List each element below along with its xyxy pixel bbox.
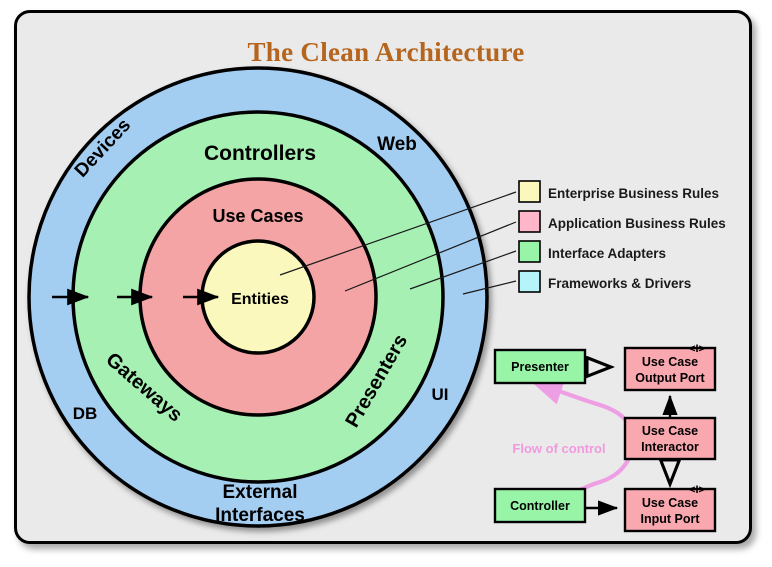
legend-swatch-frameworks [519,271,540,292]
ring-label-entities: Entities [231,291,289,308]
ring-label-use-cases: Use Cases [212,206,303,226]
legend-item-application: Application Business Rules [519,211,726,232]
flow-box-use-case-output-port-line1: Use Case [642,355,698,369]
flow-box-use-case-input-port-line2: Input Port [640,512,700,526]
flow-box-use-case-input-port[interactable]: <I> Use Case Input Port [625,484,715,531]
ring-label-db: DB [73,404,98,423]
interface-marker-output-port: <I> [689,343,705,355]
interface-marker-input-port: <I> [689,484,705,496]
legend-label-enterprise: Enterprise Business Rules [548,186,719,201]
diagram-canvas: Controllers Use Cases Entities Devices W… [0,0,772,567]
flow-of-control-diagram: Flow of control Presenter <I> Use Case O… [495,343,715,531]
legend-item-frameworks: Frameworks & Drivers [519,271,691,292]
ring-label-external-line2: Interfaces [215,505,305,526]
legend-swatch-application [519,211,540,232]
flow-box-use-case-interactor[interactable]: Use Case Interactor [625,418,715,459]
ring-label-controllers: Controllers [204,142,316,165]
flow-of-control-label: Flow of control [512,441,605,456]
flow-box-use-case-interactor-line2: Interactor [641,440,699,454]
flow-box-use-case-output-port-line2: Output Port [635,371,705,385]
flow-box-use-case-input-port-line1: Use Case [642,496,698,510]
legend-label-frameworks: Frameworks & Drivers [548,276,691,291]
legend-item-interface-adapters: Interface Adapters [519,241,666,262]
ring-label-web: Web [377,134,417,155]
flow-box-use-case-interactor-line1: Use Case [642,424,698,438]
legend: Enterprise Business Rules Application Bu… [519,181,726,292]
legend-label-application: Application Business Rules [548,216,726,231]
legend-label-interface-adapters: Interface Adapters [548,246,666,261]
flow-box-controller[interactable]: Controller [495,489,585,522]
flow-box-use-case-output-port[interactable]: <I> Use Case Output Port [625,343,715,390]
flow-box-presenter[interactable]: Presenter [495,350,585,383]
legend-swatch-enterprise [519,181,540,202]
ring-label-ui: UI [432,385,449,404]
legend-swatch-interface-adapters [519,241,540,262]
ring-label-external-line1: External [223,482,298,503]
legend-item-enterprise: Enterprise Business Rules [519,181,719,202]
flow-box-controller-label: Controller [510,499,570,513]
flow-box-presenter-label: Presenter [511,360,569,374]
clean-architecture-diagram: The Clean Architecture [0,0,772,567]
